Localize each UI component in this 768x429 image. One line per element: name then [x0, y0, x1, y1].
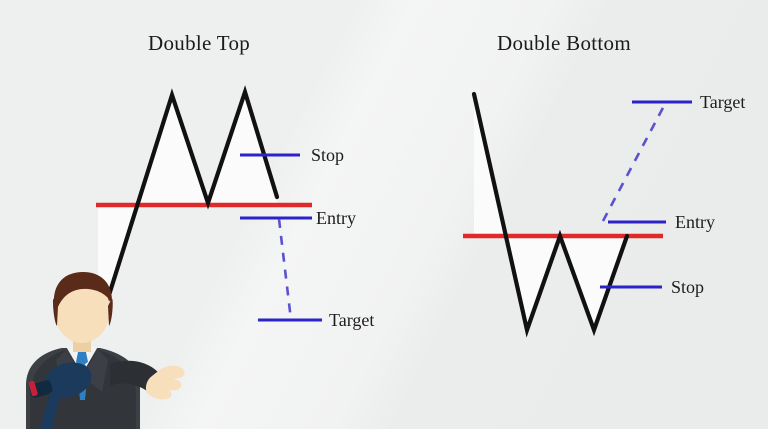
double-bottom-entry-label: Entry [675, 212, 715, 233]
double-bottom-projection-dashed [603, 104, 665, 221]
diagram-canvas: Double Top Double Bottom [0, 0, 768, 429]
double-top-entry-label: Entry [316, 208, 356, 229]
double-top-chart [96, 92, 322, 330]
businessman-figure [26, 272, 185, 429]
double-top-stop-label: Stop [311, 145, 344, 166]
double-top-fill [98, 92, 277, 330]
double-bottom-stop-label: Stop [671, 277, 704, 298]
double-bottom-target-label: Target [700, 92, 745, 113]
double-top-target-label: Target [329, 310, 374, 331]
double-top-projection-dashed [279, 219, 291, 320]
chart-vector-layer [0, 0, 768, 429]
double-bottom-fill [474, 94, 627, 330]
double-bottom-chart [463, 94, 692, 330]
